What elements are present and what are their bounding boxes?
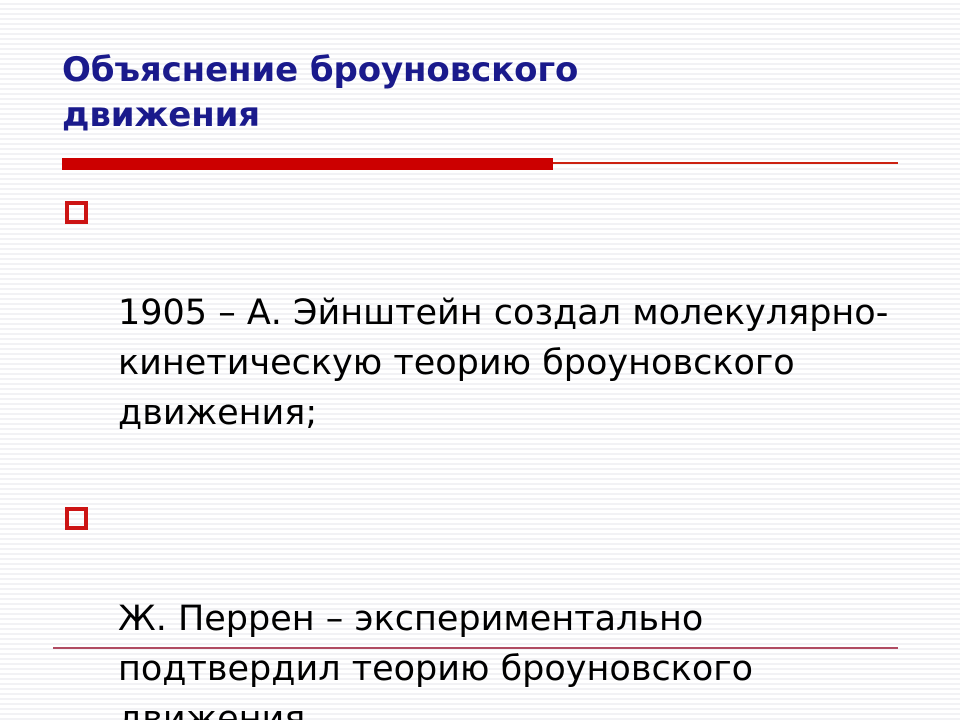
header-divider [62,158,898,170]
divider-thin-rule [553,162,898,164]
list-item-label: Ж. Перрен – экспериментально подтвердил … [118,594,912,720]
list-item: Ж. Перрен – экспериментально подтвердил … [62,494,912,720]
page-title: Объяснение броуновского движения [62,48,762,138]
hollow-square-bullet-icon [65,201,88,224]
bullet-list: 1905 – А. Эйнштейн создал молекулярно-ки… [62,188,912,720]
list-item-label: 1905 – А. Эйнштейн создал молекулярно-ки… [118,288,912,438]
footer-rule [53,647,898,649]
slide-canvas: Объяснение броуновского движения 1905 – … [0,0,960,720]
title-block: Объяснение броуновского движения [62,48,762,138]
list-item: 1905 – А. Эйнштейн создал молекулярно-ки… [62,188,912,488]
divider-thick-bar [62,158,553,170]
hollow-square-bullet-icon [65,507,88,530]
